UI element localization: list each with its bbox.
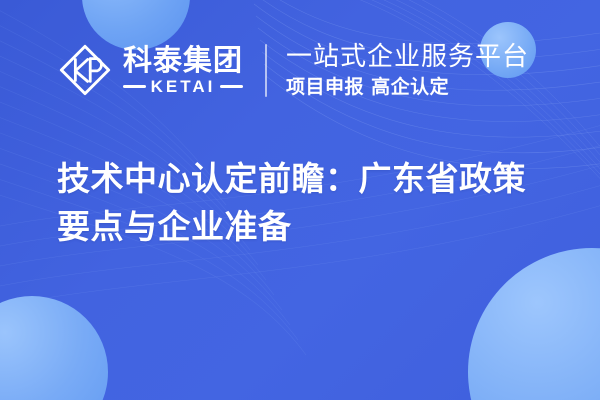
logo-dash-left (123, 85, 146, 88)
page-title: 技术中心认定前瞻：广东省政策要点与企业准备 (57, 155, 557, 251)
banner-header: 科泰集团 KETAI 一站式企业服务平台 项目申报 高企认定 (0, 0, 600, 140)
promo-banner: 科泰集团 KETAI 一站式企业服务平台 项目申报 高企认定 技术中心认定前瞻：… (0, 0, 600, 400)
logo-english-name: KETAI (151, 78, 216, 95)
decor-circle-bottom-right (468, 248, 600, 400)
logo-wordmark: 科泰集团 KETAI (123, 45, 243, 95)
brand-logo[interactable]: 科泰集团 KETAI (57, 42, 243, 98)
ketai-diamond-kt-monogram-icon (57, 42, 113, 98)
decor-circle-bottom-left (0, 296, 108, 400)
logo-english-row: KETAI (123, 78, 243, 95)
logo-dash-right (220, 85, 243, 88)
header-divider (265, 44, 267, 97)
logo-chinese-name: 科泰集团 (123, 45, 243, 75)
tagline-sub: 项目申报 高企认定 (286, 76, 529, 98)
tagline-main: 一站式企业服务平台 (286, 43, 529, 72)
header-tagline: 一站式企业服务平台 项目申报 高企认定 (286, 43, 529, 98)
